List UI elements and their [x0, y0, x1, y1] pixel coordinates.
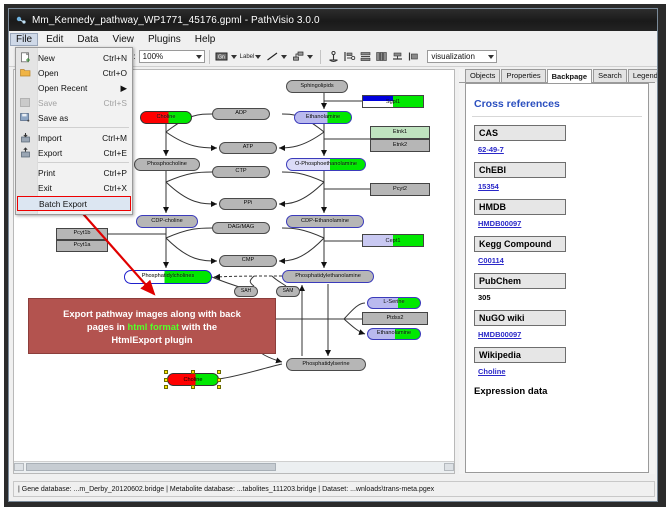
menu-label: Import [38, 133, 62, 143]
xref-value: 305 [478, 293, 648, 302]
menu-shortcut: Ctrl+S [103, 98, 132, 108]
menu-plugins[interactable]: Plugins [142, 33, 187, 46]
menu-separator [38, 127, 129, 128]
gene-label: Pcyt2 [393, 187, 407, 193]
visualization-combobox[interactable]: visualization [427, 50, 497, 63]
menu-shortcut: Ctrl+O [103, 68, 132, 78]
menu-shortcut: Ctrl+N [103, 53, 132, 63]
file-menu-dropdown[interactable]: New Ctrl+N Open Ctrl+O Open Recent ▶ Sav… [15, 47, 133, 215]
expression-data-title: Expression data [474, 386, 648, 397]
visualization-value: visualization [431, 52, 475, 61]
divider [472, 116, 642, 117]
menu-shortcut: Ctrl+P [103, 168, 132, 178]
chevron-down-icon[interactable] [281, 55, 287, 59]
menu-label: Export [38, 148, 62, 158]
save-as-icon [20, 113, 30, 122]
side-panel-tabs: Objects Properties Backpage Search Legen… [459, 69, 655, 83]
zoom-value: 100% [143, 52, 163, 61]
stack-icon[interactable] [390, 50, 404, 64]
node-label: CTP [235, 169, 246, 175]
file-menu-batch-export[interactable]: Batch Export [17, 196, 131, 211]
title-bar: Mm_Kennedy_pathway_WP1771_45176.gpml - P… [9, 9, 658, 31]
gene-label: Etnk1 [393, 130, 407, 136]
menu-label: Batch Export [39, 199, 87, 209]
chevron-down-icon[interactable] [255, 55, 261, 59]
gene-label: Etnk2 [393, 143, 407, 149]
file-menu-open-recent[interactable]: Open Recent ▶ [16, 80, 132, 95]
xref-nugo-wiki: NuGO wiki HMDB00097 [474, 308, 648, 339]
menu-data[interactable]: Data [71, 33, 104, 46]
save-icon [20, 98, 30, 107]
align-distribute-icon[interactable] [358, 50, 372, 64]
tab-backpage[interactable]: Backpage [547, 69, 592, 83]
chevron-down-icon[interactable] [307, 55, 313, 59]
gene-label: Ptdss2 [386, 316, 403, 322]
node-label: CMP [242, 258, 254, 264]
scroll-left-arrow[interactable] [14, 463, 24, 471]
import-icon [20, 132, 31, 143]
file-menu-open[interactable]: Open Ctrl+O [16, 65, 132, 80]
export-icon [20, 147, 31, 158]
chevron-down-icon [196, 55, 202, 59]
xref-link[interactable]: HMDB00097 [478, 219, 648, 228]
file-menu-save-as[interactable]: Save as [16, 110, 132, 125]
node-label: L-Serine [383, 300, 404, 306]
pathvisio-icon [15, 14, 27, 26]
canvas-horizontal-scrollbar[interactable] [14, 461, 454, 473]
menu-label: Save [38, 98, 57, 108]
node-label: CDP-Ethanolamine [301, 219, 349, 225]
file-menu-import[interactable]: Import Ctrl+M [16, 130, 132, 145]
node-label: SAH [241, 289, 251, 294]
node-label: Phosphocholine [147, 162, 187, 168]
node-label: SAM [283, 289, 294, 294]
xref-kegg-compound: Kegg Compound C00114 [474, 234, 648, 265]
xref-wikipedia: Wikipedia Choline [474, 345, 648, 376]
status-text: | Gene database: ...m_Derby_20120602.bri… [18, 486, 434, 493]
backpage-content[interactable]: Cross references CAS 62-49-7 ChEBI 15354… [465, 83, 649, 473]
xref-db-label: CAS [474, 125, 566, 141]
file-menu-export[interactable]: Export Ctrl+E [16, 145, 132, 160]
line-icon[interactable] [265, 50, 279, 64]
new-file-icon [20, 52, 31, 63]
menu-label: Open Recent [38, 83, 87, 93]
node-label: ADP [235, 111, 247, 117]
file-menu-save: Save Ctrl+S [16, 95, 132, 110]
application-window: Mm_Kennedy_pathway_WP1771_45176.gpml - P… [8, 8, 658, 502]
node-label: Choline [157, 115, 176, 121]
node-label: Sphingolipids [300, 84, 333, 90]
menu-label: Print [38, 168, 55, 178]
status-bar: | Gene database: ...m_Derby_20120602.bri… [13, 481, 655, 497]
menu-file[interactable]: File [10, 33, 38, 46]
folder-icon [20, 68, 31, 77]
xref-cas: CAS 62-49-7 [474, 123, 648, 154]
tab-legend[interactable]: Legend [628, 69, 658, 82]
menu-label: Exit [38, 183, 52, 193]
window-title: Mm_Kennedy_pathway_WP1771_45176.gpml - P… [32, 15, 320, 26]
menu-shortcut: Ctrl+X [103, 183, 132, 193]
tab-objects[interactable]: Objects [465, 69, 500, 82]
node-label: Phosphatidylcholines [142, 274, 195, 280]
label-tool-label: Label [240, 54, 255, 60]
zoom-combobox[interactable]: 100% [139, 50, 205, 63]
screenshot-root: Mm_Kennedy_pathway_WP1771_45176.gpml - P… [0, 0, 670, 509]
gene-label: Pcyt1a [73, 243, 90, 249]
xref-db-label: Kegg Compound [474, 236, 566, 252]
toolbar-separator [209, 50, 210, 64]
datanode-icon[interactable]: Gn [215, 50, 229, 64]
xref-hmdb: HMDB HMDB00097 [474, 197, 648, 228]
side-panel: Objects Properties Backpage Search Legen… [459, 69, 655, 474]
menu-shortcut: Ctrl+E [103, 148, 132, 158]
node-label: O-Phosphoethanolamine [295, 162, 357, 168]
node-label: Ethanolamine [377, 331, 411, 337]
menu-label: Save as [38, 113, 68, 123]
scroll-right-arrow[interactable] [444, 463, 454, 471]
menu-help[interactable]: Help [189, 33, 222, 46]
gene-label: Pcyt1b [73, 231, 90, 237]
tab-properties[interactable]: Properties [501, 69, 545, 82]
chevron-down-icon [488, 55, 494, 59]
node-label: ATP [243, 145, 253, 151]
chevron-down-icon[interactable] [231, 55, 237, 59]
menu-bar: File Edit Data View Plugins Help [9, 31, 658, 48]
file-menu-new[interactable]: New Ctrl+N [16, 50, 132, 65]
xref-db-label: ChEBI [474, 162, 566, 178]
menu-label: Open [38, 68, 59, 78]
node-label: PPi [244, 201, 253, 207]
interaction-icon[interactable] [291, 50, 305, 64]
menu-separator [38, 162, 129, 163]
menu-edit[interactable]: Edit [40, 33, 69, 46]
xref-link[interactable]: 15354 [478, 182, 648, 191]
file-menu-print[interactable]: Print Ctrl+P [16, 165, 132, 180]
svg-text:Gn: Gn [218, 55, 225, 61]
menu-view[interactable]: View [106, 33, 140, 46]
node-label: Phosphatidylethanolamine [295, 274, 361, 280]
xref-db-label: NuGO wiki [474, 310, 566, 326]
tab-search[interactable]: Search [593, 69, 627, 82]
order-icon[interactable] [406, 50, 420, 64]
cross-references-title: Cross references [474, 98, 648, 110]
anchor-icon[interactable] [326, 50, 340, 64]
xref-pubchem: PubChem 305 [474, 271, 648, 302]
align-left-icon[interactable] [342, 50, 356, 64]
node-label: Ethanolamine [306, 115, 340, 121]
node-label: Phosphatidylserine [302, 362, 349, 368]
menu-label: New [38, 53, 55, 63]
xref-link[interactable]: C00114 [478, 256, 648, 265]
toolbar-separator [320, 50, 321, 64]
xref-db-label: Wikipedia [474, 347, 566, 363]
file-menu-exit[interactable]: Exit Ctrl+X [16, 180, 132, 195]
menu-shortcut: Ctrl+M [102, 133, 132, 143]
xref-link[interactable]: HMDB00097 [478, 330, 648, 339]
node-label: CDP-choline [151, 219, 182, 225]
xref-db-label: HMDB [474, 199, 566, 215]
node-label: DAG/MAG [228, 225, 254, 231]
xref-chebi: ChEBI 15354 [474, 160, 648, 191]
size-equal-icon[interactable] [374, 50, 388, 64]
submenu-arrow-icon: ▶ [121, 83, 132, 93]
scroll-thumb[interactable] [26, 463, 276, 471]
xref-link[interactable]: 62-49-7 [478, 145, 648, 154]
xref-link[interactable]: Choline [478, 367, 648, 376]
xref-db-label: PubChem [474, 273, 566, 289]
